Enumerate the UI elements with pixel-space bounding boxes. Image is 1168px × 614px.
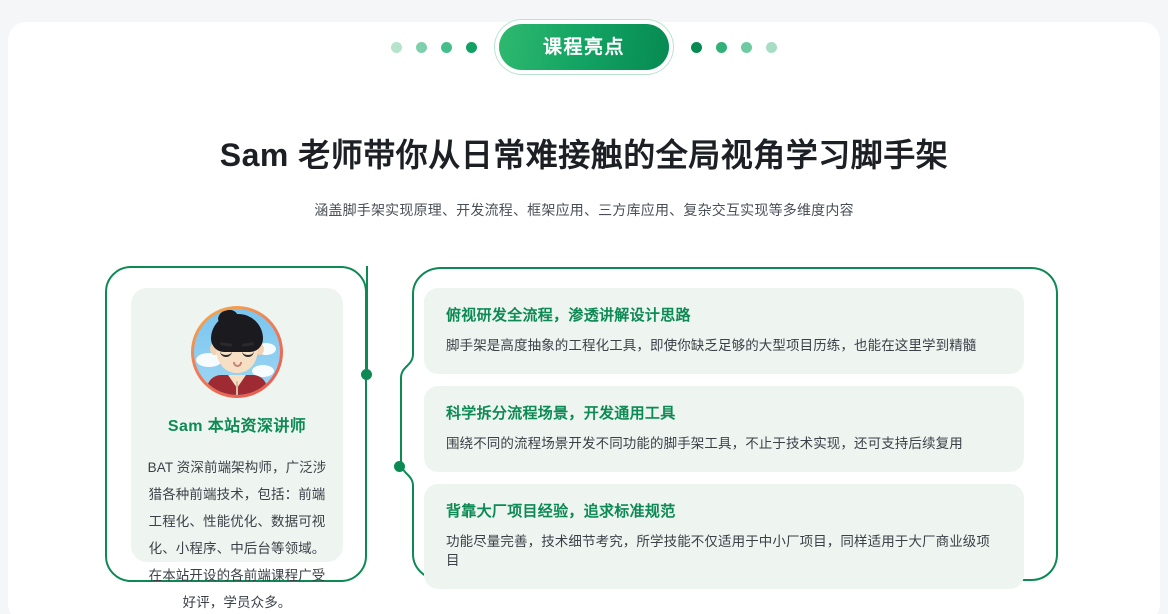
feature-title-1: 俯视研发全流程，渗透讲解设计思路 [446, 304, 1002, 325]
connector-line-left [366, 266, 368, 376]
feature-desc-1: 脚手架是高度抽象的工程化工具，即使你缺乏足够的大型项目历练，也能在这里学到精髓 [446, 337, 1002, 356]
avatar-ring [191, 306, 283, 398]
instructor-description: BAT 资深前端架构师，广泛涉猎各种前端技术，包括：前端工程化、性能优化、数据可… [145, 454, 329, 614]
feature-card-3: 背靠大厂项目经验，追求标准规范 功能尽量完善，技术细节考究，所学技能不仅适用于中… [424, 484, 1024, 589]
connector-dot-left [361, 369, 372, 380]
avatar [194, 309, 280, 395]
feature-desc-3: 功能尽量完善，技术细节考究，所学技能不仅适用于中小厂项目，同样适用于大厂商业级项… [446, 533, 1002, 571]
feature-title-2: 科学拆分流程场景，开发通用工具 [446, 402, 1002, 423]
avatar-zipper [236, 381, 238, 395]
feature-card-1: 俯视研发全流程，渗透讲解设计思路 脚手架是高度抽象的工程化工具，即使你缺乏足够的… [424, 288, 1024, 374]
content-area: Sam 本站资深讲师 BAT 资深前端架构师，广泛涉猎各种前端技术，包括：前端工… [0, 0, 1168, 614]
feature-card-2: 科学拆分流程场景，开发通用工具 围绕不同的流程场景开发不同功能的脚手架工具，不止… [424, 386, 1024, 472]
instructor-card: Sam 本站资深讲师 BAT 资深前端架构师，广泛涉猎各种前端技术，包括：前端工… [131, 288, 343, 562]
course-highlights-page: 课程亮点 Sam 老师带你从日常难接触的全局视角学习脚手架 涵盖脚手架实现原理、… [0, 0, 1168, 614]
features-list: 俯视研发全流程，渗透讲解设计思路 脚手架是高度抽象的工程化工具，即使你缺乏足够的… [424, 288, 1024, 601]
feature-title-3: 背靠大厂项目经验，追求标准规范 [446, 500, 1002, 521]
instructor-name: Sam 本站资深讲师 [145, 412, 329, 436]
feature-desc-2: 围绕不同的流程场景开发不同功能的脚手架工具，不止于技术实现，还可支持后续复用 [446, 435, 1002, 454]
